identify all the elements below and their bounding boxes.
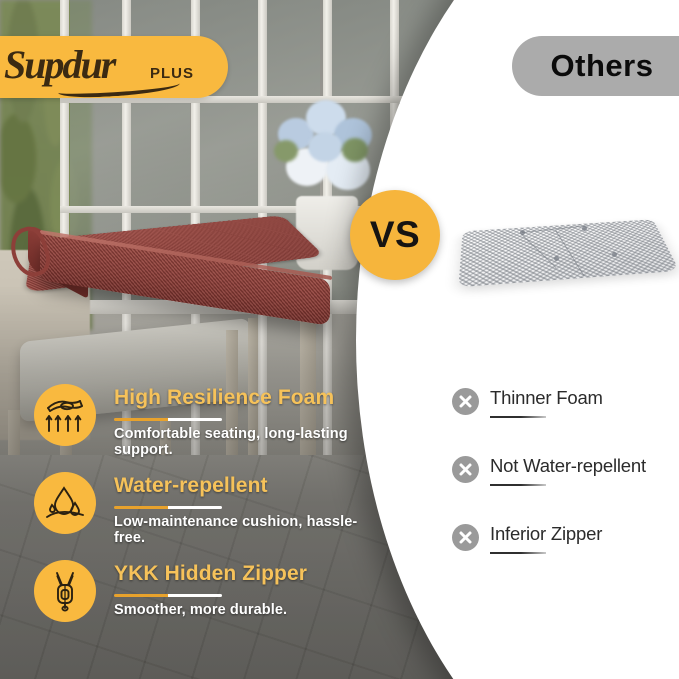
feature-rule xyxy=(114,418,222,421)
versus-label: VS xyxy=(370,214,420,256)
product-cushion-image xyxy=(10,165,360,325)
drawback-title: Inferior Zipper xyxy=(490,523,602,545)
feature-rule xyxy=(114,594,222,597)
feature-subtitle: Low-maintenance cushion, hassle-free. xyxy=(114,514,374,546)
feature-subtitle: Smoother, more durable. xyxy=(114,602,287,618)
circle-x-icon xyxy=(452,388,479,415)
drawback-title: Not Water-repellent xyxy=(490,455,646,477)
feature-item: YKK Hidden Zipper Smoother, more durable… xyxy=(34,554,374,642)
drawback-title: Thinner Foam xyxy=(490,387,603,409)
circle-x-icon xyxy=(452,524,479,551)
drawback-rule xyxy=(490,552,546,554)
drawback-rule xyxy=(490,416,546,418)
product-feature-list: High Resilience Foam Comfortable seating… xyxy=(34,378,374,642)
feature-title: High Resilience Foam xyxy=(114,386,334,410)
feature-item: High Resilience Foam Comfortable seating… xyxy=(34,378,374,466)
drawback-item: Not Water-repellent xyxy=(452,454,679,522)
feature-title: YKK Hidden Zipper xyxy=(114,562,307,586)
drawback-item: Thinner Foam xyxy=(452,386,679,454)
brand-logo-badge: Supdur PLUS xyxy=(0,36,228,98)
cushion-tuft xyxy=(554,256,559,261)
competitor-cushion-image xyxy=(462,190,674,320)
feature-title: Water-repellent xyxy=(114,474,268,498)
circle-x-icon xyxy=(452,456,479,483)
drawback-item: Inferior Zipper xyxy=(452,522,679,590)
drawback-rule xyxy=(490,484,546,486)
feature-rule xyxy=(114,506,222,509)
competitor-label: Others xyxy=(551,48,654,84)
feature-item: Water-repellent Low-maintenance cushion,… xyxy=(34,466,374,554)
brand-logo-mark: Supdur PLUS xyxy=(4,43,194,91)
cushion-tuft xyxy=(612,252,617,257)
versus-badge: VS xyxy=(350,190,440,280)
cushion-tuft xyxy=(582,226,587,231)
feature-subtitle: Comfortable seating, long-lasting suppor… xyxy=(114,426,374,458)
foam-hand-icon xyxy=(34,384,96,446)
competitor-drawback-list: Thinner Foam Not Water-repellent Inferio… xyxy=(452,386,679,590)
brand-suffix: PLUS xyxy=(150,65,194,82)
water-droplet-icon xyxy=(34,472,96,534)
competitor-header-badge: Others xyxy=(512,36,679,96)
zipper-icon xyxy=(34,560,96,622)
comparison-infographic: Supdur PLUS Others VS xyxy=(0,0,679,679)
